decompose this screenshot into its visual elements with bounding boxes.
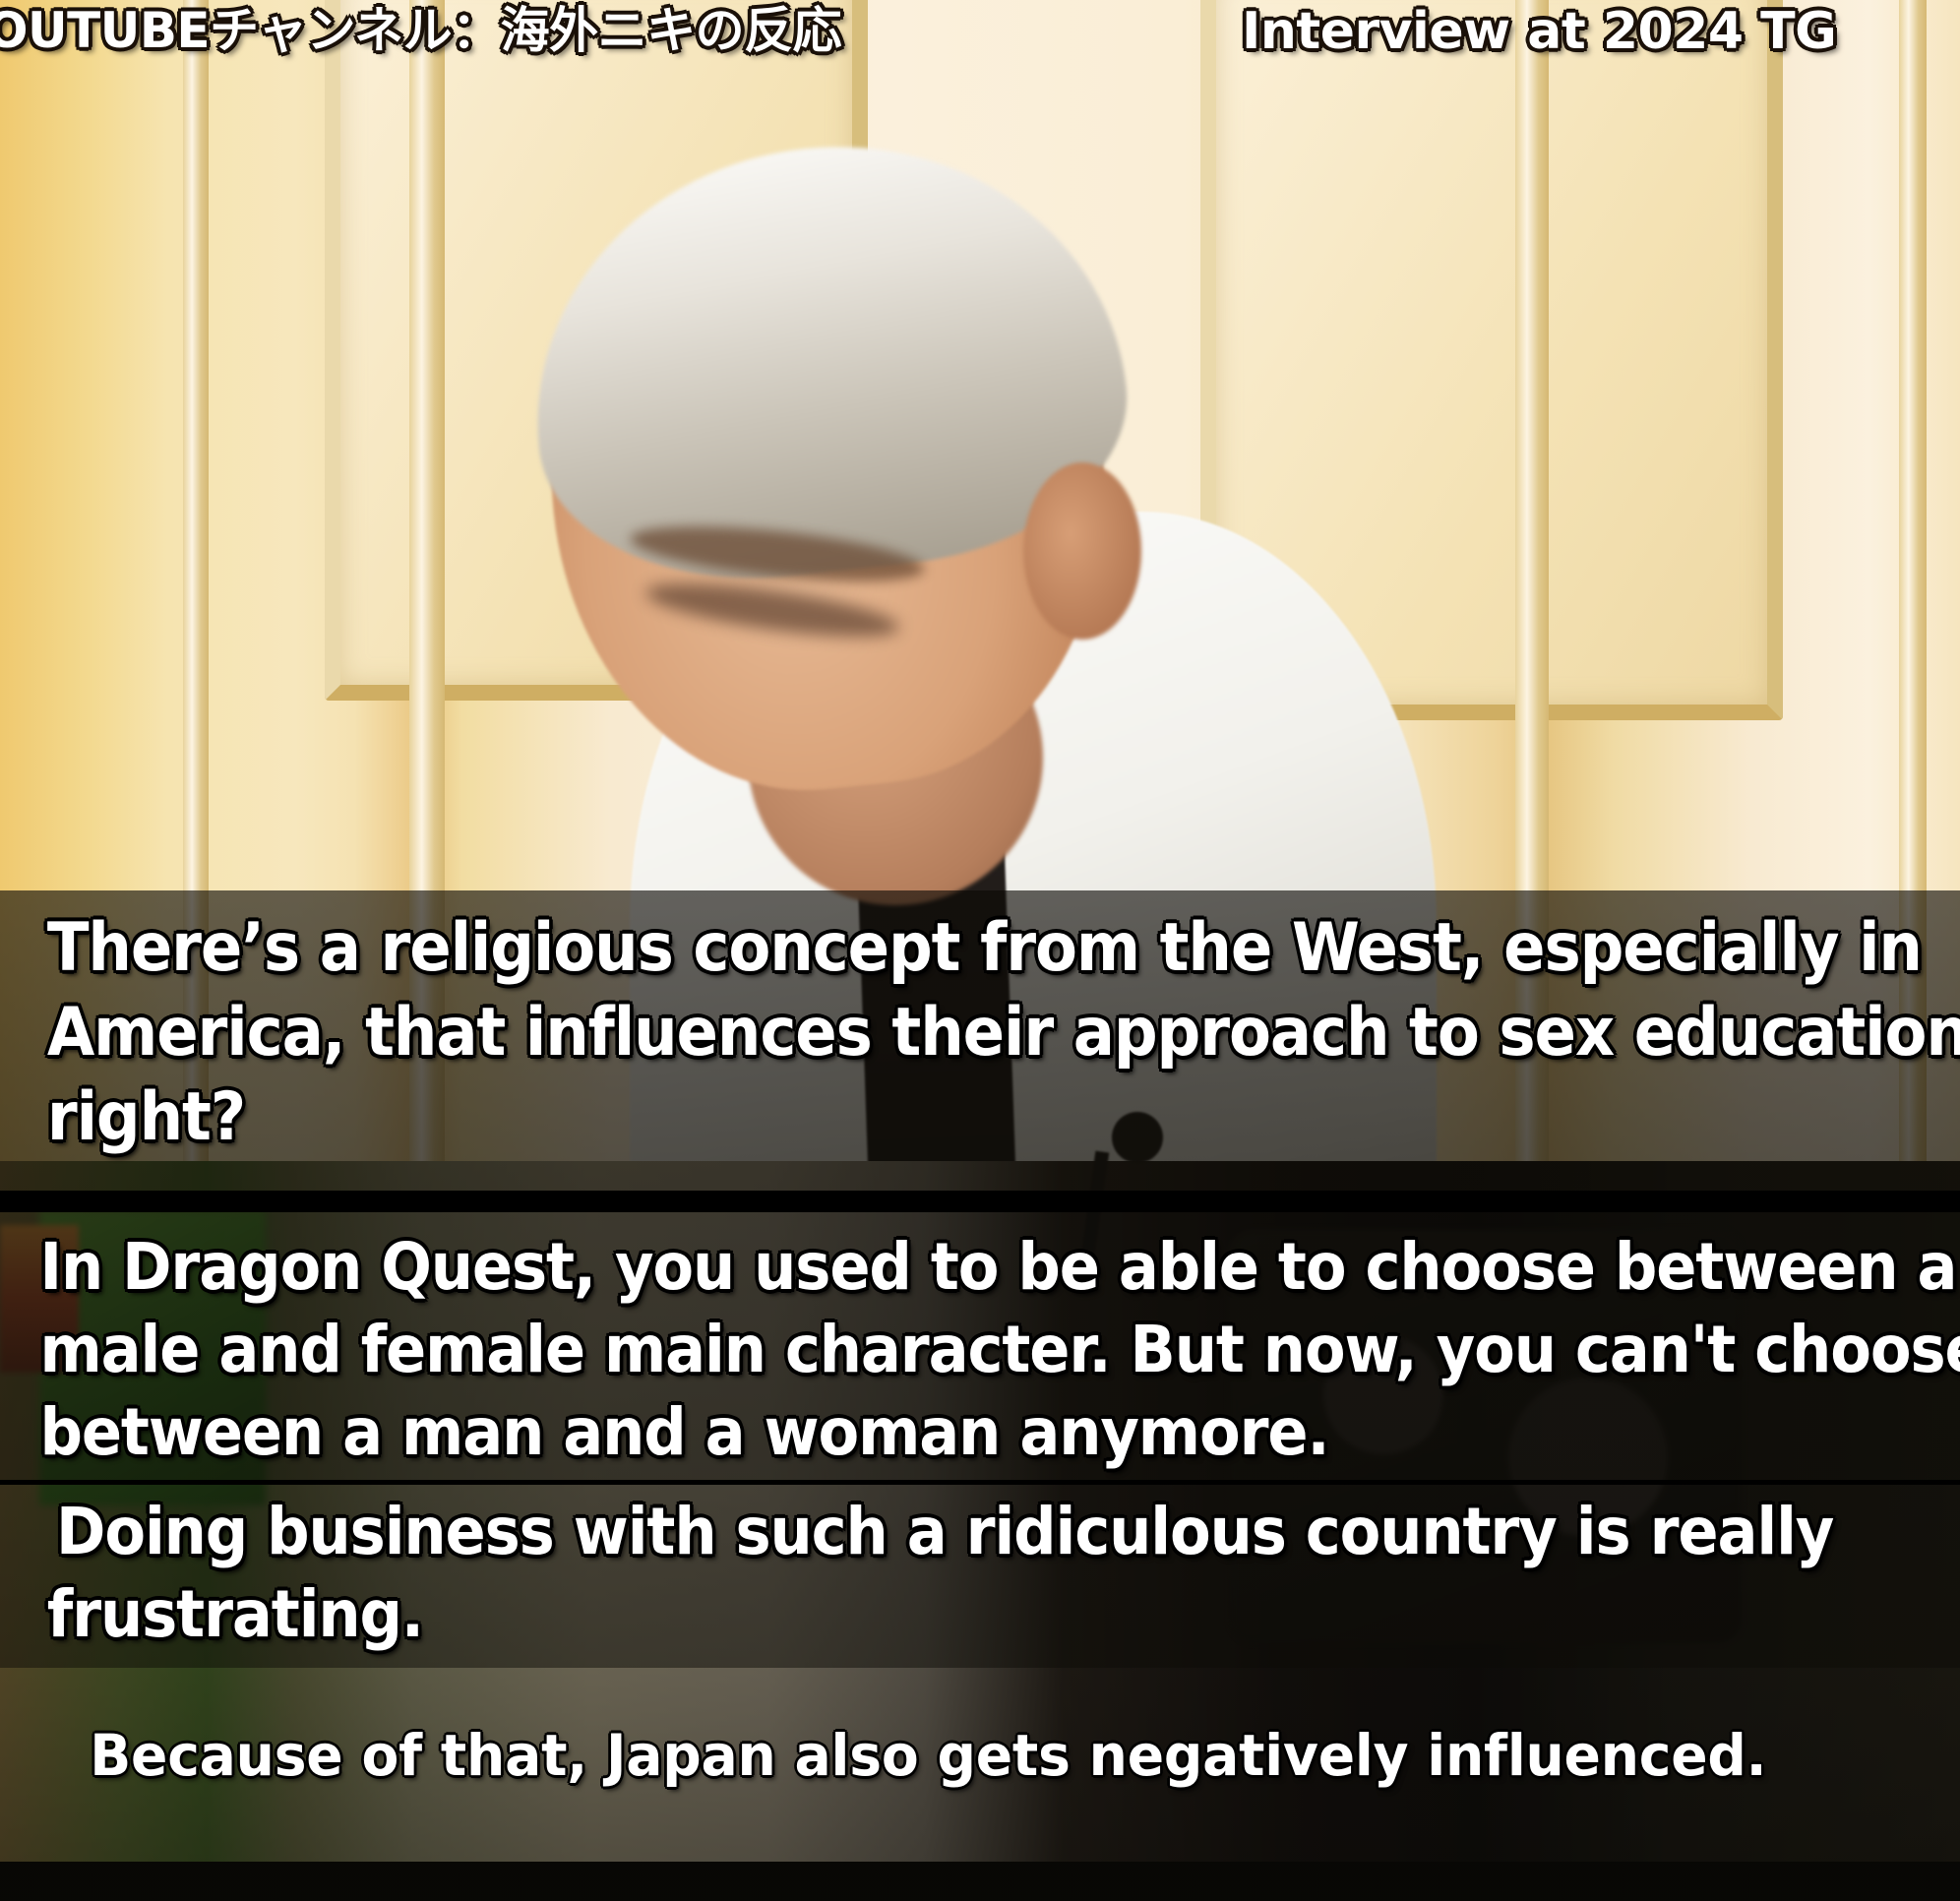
- subtitle-line: In Dragon Quest, you used to be able to …: [0, 1226, 1804, 1309]
- subtitle-line: between a man and a woman anymore.: [0, 1391, 1804, 1474]
- subtitle-line: There’s a religious concept from the Wes…: [0, 906, 1804, 991]
- subtitle-line: America, that influences their approach …: [0, 991, 1804, 1075]
- subtitle-line: Because of that, Japan also gets negativ…: [0, 1719, 1862, 1792]
- subtitle-block-3: Doing business with such a ridiculous co…: [0, 1485, 1960, 1668]
- subtitle-block-1: There’s a religious concept from the Wes…: [0, 890, 1960, 1191]
- channel-banner-text: OUTUBEチャンネル：海外ニキの反応: [0, 0, 841, 61]
- subtitle-line: frustrating.: [0, 1573, 1804, 1656]
- subtitle-divider: [0, 1191, 1960, 1212]
- subtitle-line: male and female main character. But now,…: [0, 1309, 1804, 1391]
- subtitle-line: right?: [0, 1075, 1804, 1160]
- interview-caption-text: Interview at 2024 TG: [1242, 0, 1836, 63]
- video-frame: OUTUBEチャンネル：海外ニキの反応 Interview at 2024 TG…: [0, 0, 1960, 1901]
- subtitle-block-4: Because of that, Japan also gets negativ…: [0, 1668, 1960, 1901]
- subtitle-line: Doing business with such a ridiculous co…: [0, 1491, 1804, 1573]
- person-ear: [1023, 462, 1141, 640]
- subtitle-block-2: In Dragon Quest, you used to be able to …: [0, 1212, 1960, 1480]
